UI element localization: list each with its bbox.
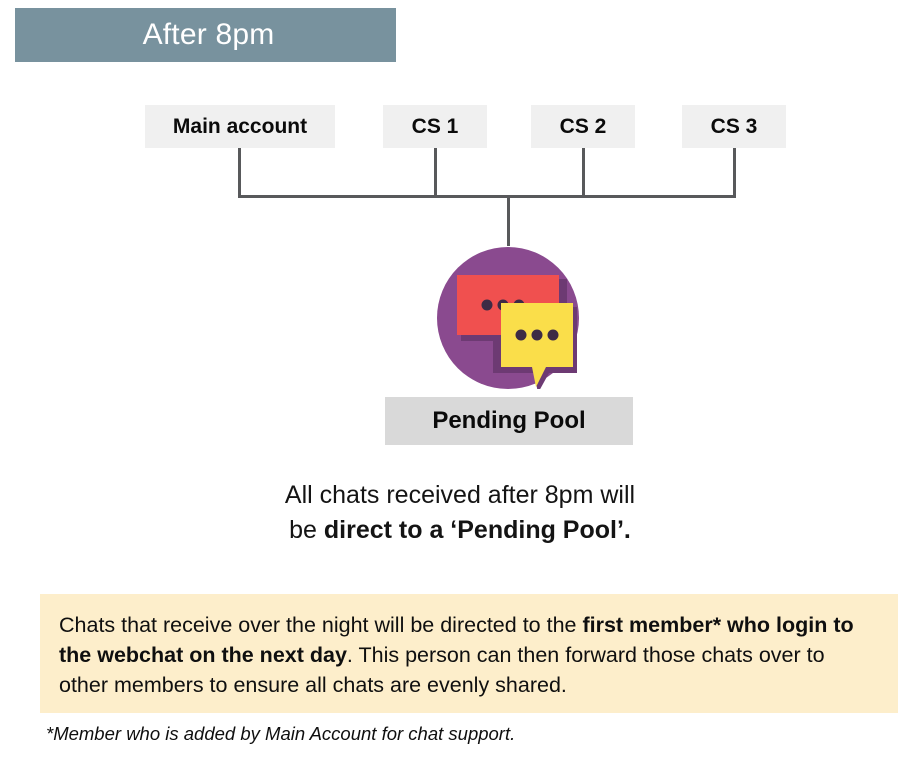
node-box-cs-2: CS 2	[531, 105, 635, 148]
node-label-cs-3: CS 3	[711, 115, 758, 139]
chat-icon-yellow-dot-2	[532, 330, 543, 341]
header-banner: After 8pm	[15, 8, 396, 62]
caption-line-2-bold: direct to a ‘Pending Pool’.	[324, 516, 631, 544]
callout-box: Chats that receive over the night will b…	[40, 594, 898, 713]
node-box-cs-1: CS 1	[383, 105, 487, 148]
node-box-cs-3: CS 3	[682, 105, 786, 148]
chat-bubbles-icon	[437, 247, 579, 389]
pending-pool-box: Pending Pool	[385, 397, 633, 445]
node-box-main-account: Main account	[145, 105, 335, 148]
page-title: After 8pm	[137, 18, 275, 52]
chat-icon-yellow-dot-3	[548, 330, 559, 341]
caption-line-2-normal: be	[289, 516, 324, 544]
node-label-cs-2: CS 2	[560, 115, 607, 139]
caption-line-1: All chats received after 8pm will	[285, 481, 635, 509]
pending-pool-label: Pending Pool	[432, 407, 585, 435]
diagram-caption: All chats received after 8pm will be dir…	[160, 478, 760, 548]
callout-text: Chats that receive over the night will b…	[59, 610, 879, 700]
footnote-text: *Member who is added by Main Account for…	[46, 723, 515, 745]
callout-text-part-1: Chats that receive over the night will b…	[59, 613, 582, 637]
chat-icon-red-dot-1	[482, 300, 493, 311]
chat-icon-yellow-dot-1	[516, 330, 527, 341]
node-label-main-account: Main account	[173, 115, 307, 139]
node-label-cs-1: CS 1	[412, 115, 459, 139]
